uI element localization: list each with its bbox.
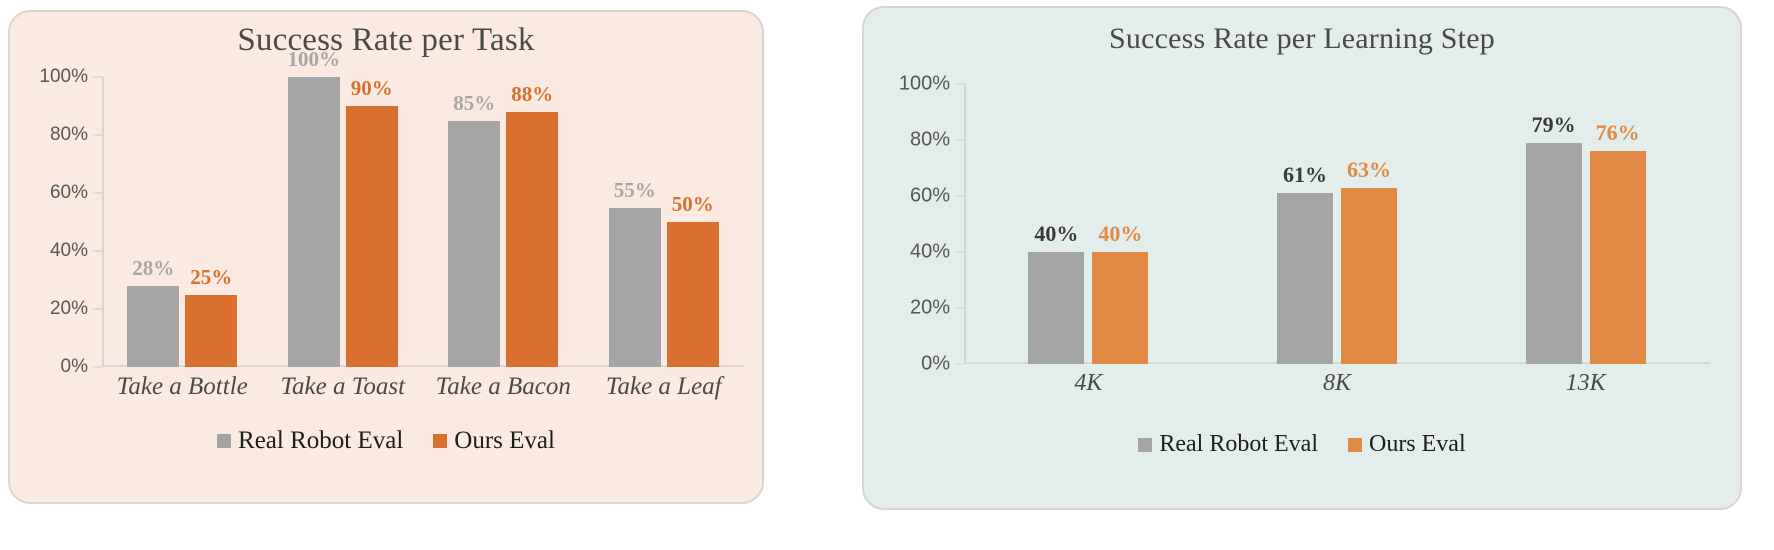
legend-swatch-icon [433, 434, 447, 448]
category-labels-left: Take a BottleTake a ToastTake a BaconTak… [102, 373, 744, 401]
bar-real-robot-eval[interactable]: 28% [127, 286, 179, 367]
bar-real-robot-eval[interactable]: 55% [609, 208, 661, 368]
y-axis-tick-label: 80% [910, 129, 950, 152]
plot-area-left: 100%80%60%40%20%0% 28%25%100%90%85%88%55… [28, 77, 744, 367]
bar-ours-eval[interactable]: 50% [667, 222, 719, 367]
bar-real-robot-eval[interactable]: 61% [1277, 193, 1333, 364]
y-axis-tick-mark [955, 196, 964, 197]
bar-group: 55%50% [584, 77, 745, 367]
legend-label: Real Robot Eval [238, 427, 403, 455]
bar-real-robot-eval[interactable]: 40% [1028, 252, 1084, 364]
y-axis-tick-mark [93, 77, 102, 78]
bar-groups-left: 28%25%100%90%85%88%55%50% [102, 77, 744, 367]
legend-swatch-icon [1138, 438, 1152, 452]
category-labels-right: 4K8K13K [964, 370, 1710, 397]
bar-pair: 28%25% [127, 77, 237, 367]
legend-item[interactable]: Real Robot Eval [217, 427, 403, 455]
page-title-right: Success Rate per Learning Step [864, 8, 1740, 56]
bar-pair: 79%76% [1526, 84, 1646, 364]
bar-ours-eval[interactable]: 88% [506, 112, 558, 367]
category-label: Take a Leaf [584, 373, 745, 401]
category-label: Take a Bottle [102, 373, 263, 401]
y-axis-tick-mark [955, 308, 964, 309]
legend-left: Real Robot EvalOurs Eval [10, 427, 762, 455]
legend-swatch-icon [1348, 438, 1362, 452]
y-axis-tick-label: 0% [61, 356, 88, 378]
y-axis-tick-label: 100% [899, 73, 950, 96]
category-label: Take a Toast [263, 373, 424, 401]
bar-value-label: 88% [511, 82, 553, 107]
bar-real-robot-eval[interactable]: 79% [1526, 143, 1582, 364]
bar-value-label: 76% [1596, 120, 1640, 146]
bar-value-label: 40% [1098, 221, 1142, 247]
y-axis-tick-mark [93, 309, 102, 310]
chart-panel-success-rate-per-learning-step: Success Rate per Learning Step 100%80%60… [862, 6, 1742, 510]
y-axis-tick-label: 60% [910, 185, 950, 208]
legend-item[interactable]: Ours Eval [433, 427, 555, 455]
y-axis-tick-label: 60% [50, 182, 88, 204]
bar-ours-eval[interactable]: 63% [1341, 188, 1397, 364]
bar-pair: 100%90% [288, 77, 398, 367]
y-axis-tick-label: 80% [50, 124, 88, 146]
bar-value-label: 25% [190, 265, 232, 290]
y-axis-tick-label: 100% [39, 66, 88, 88]
category-label: Take a Bacon [423, 373, 584, 401]
page-title-left: Success Rate per Task [10, 12, 762, 59]
bar-real-robot-eval[interactable]: 100% [288, 77, 340, 367]
bar-pair: 40%40% [1028, 84, 1148, 364]
legend-item[interactable]: Ours Eval [1348, 431, 1466, 458]
legend-label: Real Robot Eval [1159, 431, 1318, 458]
bar-value-label: 50% [672, 192, 714, 217]
bar-value-label: 63% [1347, 157, 1391, 183]
bar-ours-eval[interactable]: 76% [1590, 151, 1646, 364]
y-axis-tick-mark [93, 367, 102, 368]
bar-group: 79%76% [1461, 84, 1710, 364]
bar-ours-eval[interactable]: 40% [1092, 252, 1148, 364]
bar-group: 85%88% [423, 77, 584, 367]
bar-value-label: 61% [1283, 162, 1327, 188]
bar-value-label: 90% [351, 76, 393, 101]
bar-pair: 85%88% [448, 77, 558, 367]
bar-pair: 55%50% [609, 77, 719, 367]
bar-value-label: 100% [288, 47, 341, 72]
bar-group: 100%90% [263, 77, 424, 367]
bar-value-label: 40% [1034, 221, 1078, 247]
y-axis-tick-mark [93, 193, 102, 194]
y-axis-tick-label: 20% [910, 297, 950, 320]
category-label: 13K [1461, 370, 1710, 397]
category-label: 8K [1213, 370, 1462, 397]
y-axis-tick-mark [955, 364, 964, 365]
y-axis-tick-mark [93, 135, 102, 136]
legend-right: Real Robot EvalOurs Eval [864, 431, 1740, 458]
legend-swatch-icon [217, 434, 231, 448]
legend-item[interactable]: Real Robot Eval [1138, 431, 1318, 458]
y-axis-tick-mark [93, 251, 102, 252]
y-axis-tick-mark [955, 252, 964, 253]
y-axis-tick-label: 40% [50, 240, 88, 262]
y-axis-left: 100%80%60%40%20%0% [28, 77, 102, 367]
y-axis-tick-label: 20% [50, 298, 88, 320]
category-label: 4K [964, 370, 1213, 397]
y-axis-tick-mark [955, 84, 964, 85]
bar-value-label: 85% [453, 91, 495, 116]
bar-value-label: 55% [614, 178, 656, 203]
bar-real-robot-eval[interactable]: 85% [448, 121, 500, 368]
bar-value-label: 79% [1532, 112, 1576, 138]
bar-pair: 61%63% [1277, 84, 1397, 364]
y-axis-tick-mark [955, 140, 964, 141]
bar-groups-right: 40%40%61%63%79%76% [964, 84, 1710, 364]
bar-group: 61%63% [1213, 84, 1462, 364]
bar-ours-eval[interactable]: 90% [346, 106, 398, 367]
bar-ours-eval[interactable]: 25% [185, 295, 237, 368]
chart-panel-success-rate-per-task: Success Rate per Task 100%80%60%40%20%0%… [8, 10, 764, 504]
y-axis-right: 100%80%60%40%20%0% [890, 84, 964, 364]
bar-group: 40%40% [964, 84, 1213, 364]
charts-board: Success Rate per Task 100%80%60%40%20%0%… [0, 0, 1774, 550]
bar-value-label: 28% [132, 256, 174, 281]
y-axis-tick-label: 0% [921, 353, 950, 376]
bar-group: 28%25% [102, 77, 263, 367]
y-axis-tick-label: 40% [910, 241, 950, 264]
plot-area-right: 100%80%60%40%20%0% 40%40%61%63%79%76% [890, 84, 1710, 364]
legend-label: Ours Eval [1369, 431, 1466, 458]
legend-label: Ours Eval [454, 427, 555, 455]
